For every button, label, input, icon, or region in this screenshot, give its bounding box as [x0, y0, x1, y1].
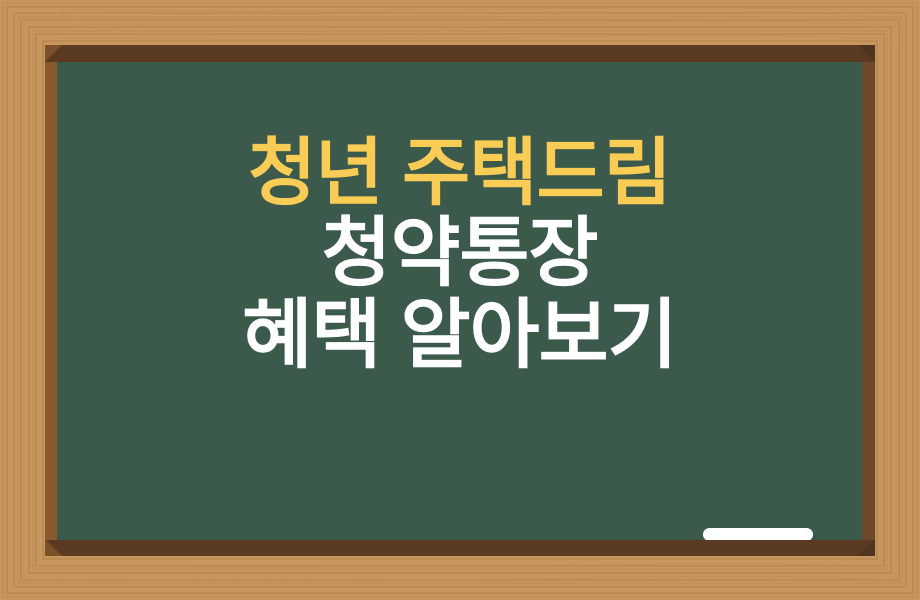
headline-line-1: 청년 주택드림: [57, 136, 862, 210]
frame-bevel-top: [45, 45, 875, 62]
frame-mitre-top-right: [858, 45, 875, 62]
frame-mitre-bottom-left: [45, 539, 62, 556]
frame-mitre-top-left: [45, 45, 62, 62]
frame-bevel-bottom: [45, 540, 875, 556]
frame-mitre-bottom-right: [858, 539, 875, 556]
headline-line-3: 혜택 알아보기: [57, 298, 862, 374]
headline-line-2: 청약통장: [57, 216, 862, 292]
headline-block: 청년 주택드림 청약통장 혜택 알아보기: [57, 136, 862, 374]
chalkboard-surface: 청년 주택드림 청약통장 혜택 알아보기: [57, 62, 862, 540]
chalk-stick-icon: [703, 528, 813, 540]
chalkboard-poster: 청년 주택드림 청약통장 혜택 알아보기: [0, 0, 920, 600]
frame-bevel-right: [862, 45, 875, 556]
